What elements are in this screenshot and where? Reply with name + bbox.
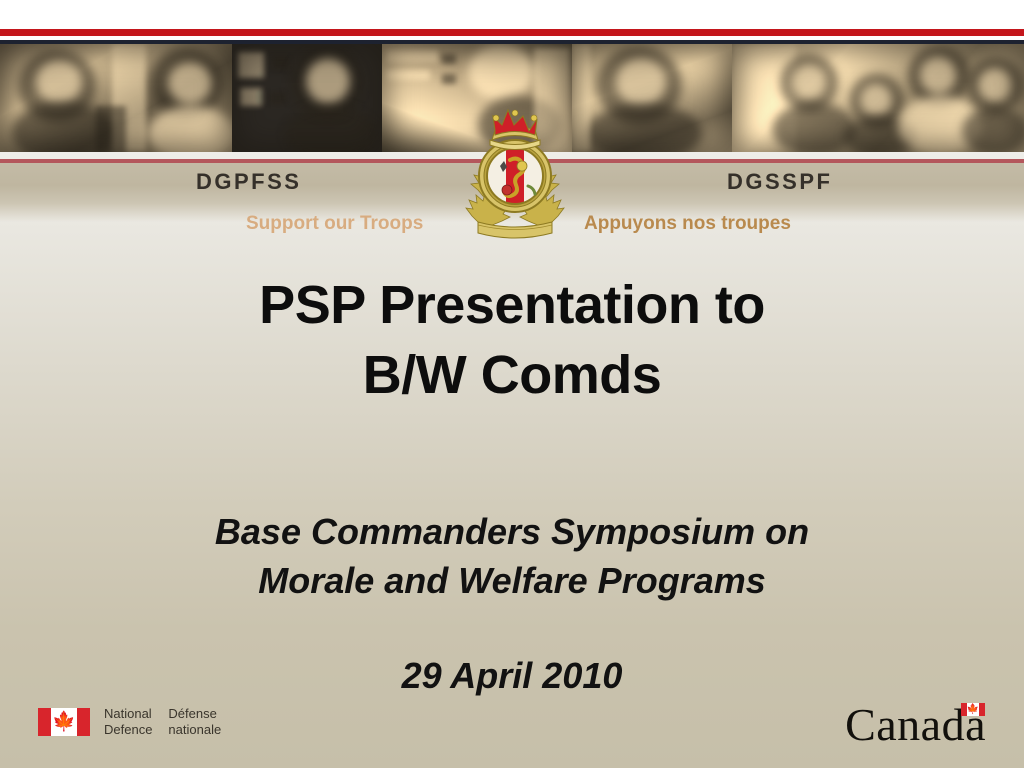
- dnd-en-line-2: Defence: [104, 722, 152, 738]
- banner-photo-soldier-radio: [0, 44, 232, 152]
- slide-title-line-1: PSP Presentation to: [0, 270, 1024, 340]
- tagline-french: Appuyons nos troupes: [584, 213, 791, 235]
- slide-title-line-2: B/W Comds: [0, 340, 1024, 410]
- tagline-english: Support our Troops: [246, 213, 423, 235]
- cf-morale-welfare-crest-icon: [462, 104, 568, 244]
- slide-subtitle: Base Commanders Symposium on Morale and …: [0, 508, 1024, 605]
- org-acronym-french: DGSSPF: [727, 169, 832, 195]
- dnd-fr-line-2: nationale: [168, 722, 221, 738]
- slide-date: 29 April 2010: [0, 655, 1024, 697]
- dnd-en-line-1: National: [104, 706, 152, 722]
- dnd-signature: 🍁 National Defence Défense nationale: [38, 706, 221, 739]
- top-white-margin: [0, 0, 1024, 29]
- banner-photo-headset-operator: [572, 44, 732, 152]
- red-rule-top: [0, 29, 1024, 36]
- dnd-fr-line-1: Défense: [168, 706, 221, 722]
- banner-photo-control-panel: [232, 44, 382, 152]
- canada-flag-icon: 🍁: [38, 708, 90, 736]
- presentation-slide: DGPFSS DGSSPF Support our Troops Appuyon…: [0, 0, 1024, 768]
- dnd-signature-text: National Defence Défense nationale: [104, 706, 221, 739]
- canada-wordmark-flag-icon: 🍁: [961, 703, 985, 716]
- banner-photo-group-personnel: [732, 44, 1024, 152]
- slide-subtitle-line-1: Base Commanders Symposium on: [0, 508, 1024, 557]
- org-acronym-english: DGPFSS: [196, 169, 301, 195]
- canada-wordmark: Canada 🍁: [845, 700, 986, 750]
- slide-title: PSP Presentation to B/W Comds: [0, 270, 1024, 410]
- slide-subtitle-line-2: Morale and Welfare Programs: [0, 557, 1024, 606]
